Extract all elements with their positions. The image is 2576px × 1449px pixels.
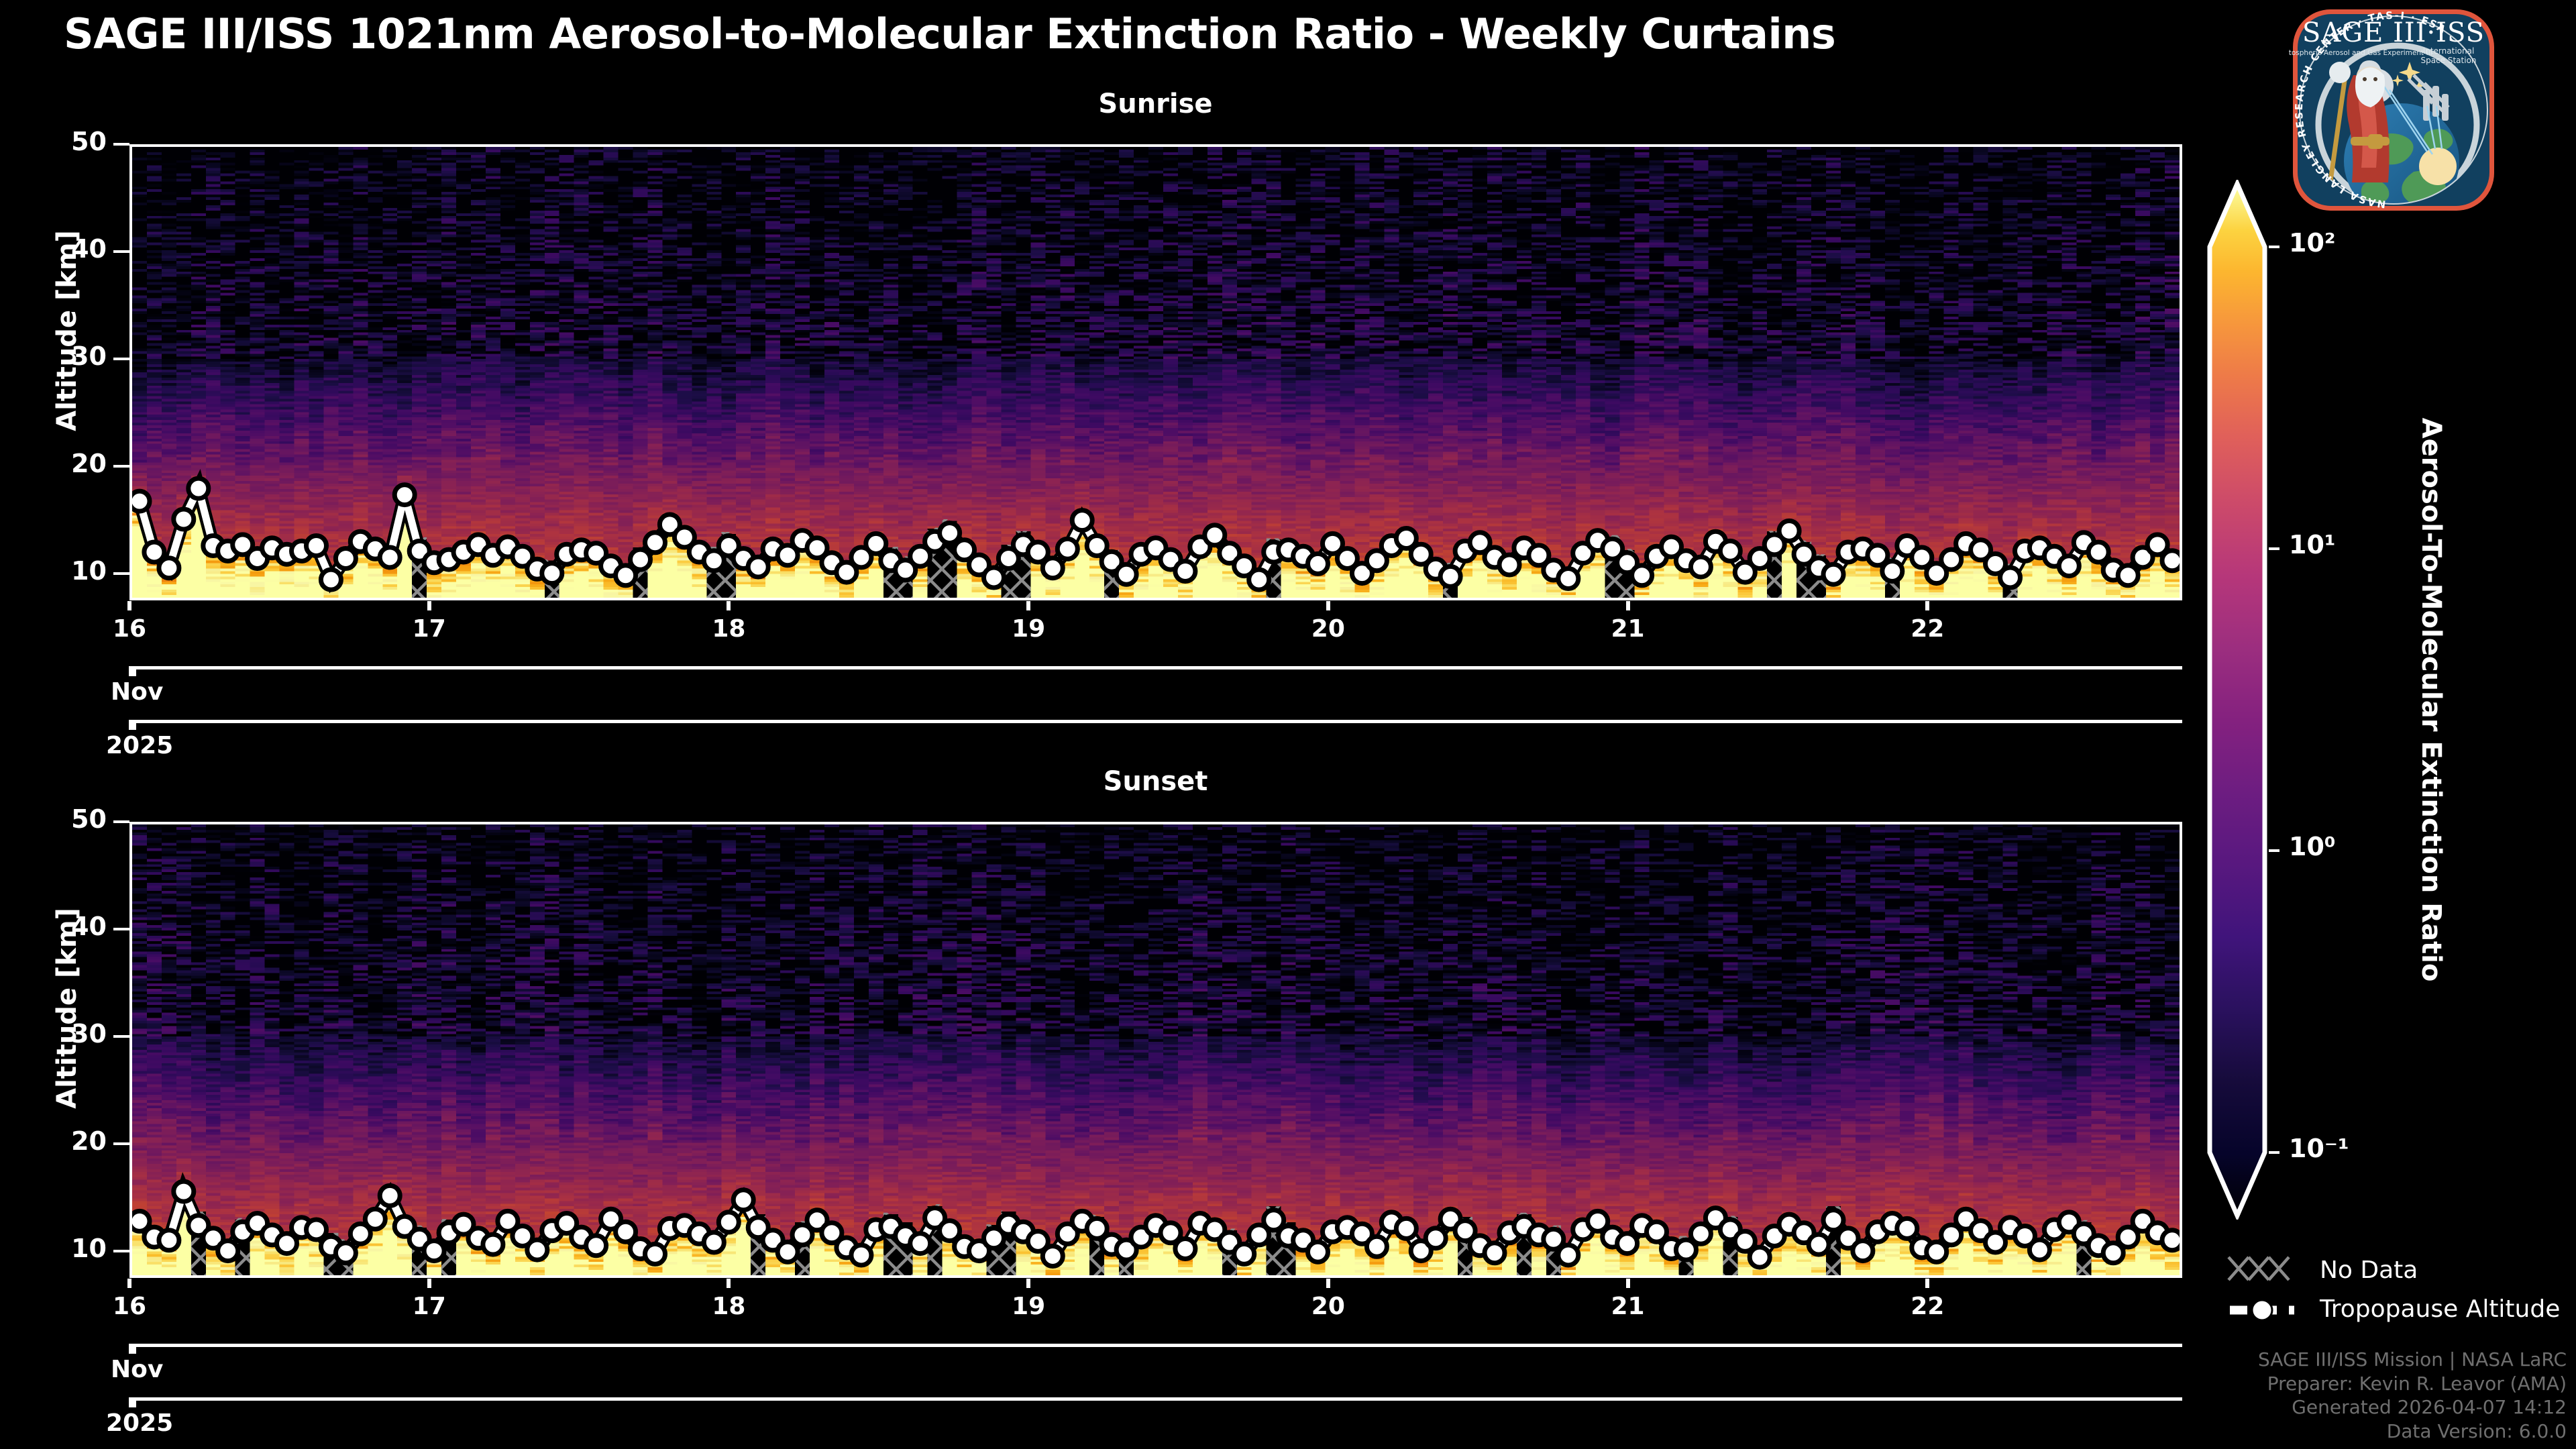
x-tick-label: 22: [1911, 615, 1944, 643]
x-tick-mark: [1326, 1279, 1330, 1288]
x-tick-label: 19: [1012, 615, 1045, 643]
y-tick-mark: [113, 250, 129, 253]
colorbar-label: Aerosol-To-Molecular Extinction Ratio: [2416, 418, 2447, 982]
svg-text:Stratospheric Aerosol and Gas: Stratospheric Aerosol and Gas Experiment…: [2289, 49, 2432, 57]
x-tick-label: 17: [413, 615, 446, 643]
colorbar-tick-mark: [2269, 547, 2279, 550]
month-label: Nov: [111, 1356, 163, 1383]
x-tick-mark: [727, 1279, 731, 1288]
y-tick-mark: [113, 143, 129, 146]
x-tick-label: 18: [712, 615, 745, 643]
x-tick-label: 22: [1911, 1293, 1944, 1320]
svg-text:Space Station: Space Station: [2420, 56, 2476, 65]
tropopause-line-marker-icon: [2227, 1292, 2305, 1328]
colorbar: 10²10¹10⁰10⁻¹ Aerosol-To-Molecular Extin…: [2203, 180, 2565, 1220]
y-axis-label-sunset: Altitude [km]: [52, 861, 83, 1156]
x-tick-mark: [1026, 601, 1030, 610]
x-tick-label: 21: [1611, 1293, 1645, 1320]
overlay-sunrise: [132, 147, 2180, 598]
footer-line-mission: SAGE III/ISS Mission | NASA LaRC: [2258, 1348, 2567, 1372]
y-tick-mark: [113, 820, 129, 823]
x-tick-mark: [427, 1279, 431, 1288]
x-tick-mark: [1925, 601, 1929, 610]
year-label: 2025: [106, 1409, 173, 1437]
colorbar-gradient: [2207, 180, 2267, 1220]
y-tick-label: 40: [0, 912, 107, 941]
y-tick-mark: [113, 1250, 129, 1252]
y-tick-mark: [113, 1142, 129, 1145]
x-tick-mark: [1326, 601, 1330, 610]
x-tick-mark: [727, 601, 731, 610]
heatmap-axes-sunset: [129, 822, 2182, 1278]
y-axis-label-sunrise: Altitude [km]: [52, 183, 83, 478]
footer-line-preparer: Preparer: Kevin R. Leavor (AMA): [2258, 1372, 2567, 1396]
colorbar-tick-label: 10⁻¹: [2289, 1134, 2349, 1163]
colorbar-tick-label: 10¹: [2289, 530, 2336, 559]
x-tick-label: 19: [1012, 1293, 1045, 1320]
colorbar-tick-mark: [2269, 1151, 2279, 1154]
legend-label-no-data: No Data: [2320, 1256, 2418, 1284]
year-label: 2025: [106, 732, 173, 759]
x-tick-mark: [1626, 601, 1630, 610]
year-level-cap: [129, 720, 136, 730]
colorbar-tick-mark: [2269, 246, 2279, 248]
month-level-cap: [129, 666, 136, 676]
x-tick-mark: [127, 601, 131, 610]
y-tick-label: 50: [0, 804, 107, 834]
tropopause-marker-group: [132, 1181, 2180, 1267]
x-tick-label: 21: [1611, 615, 1645, 643]
hatch-swatch-icon: [2227, 1253, 2305, 1289]
colorbar-tick-label: 10²: [2289, 228, 2336, 258]
x-tick-label: 20: [1311, 1293, 1345, 1320]
month-level-bar: [129, 666, 2182, 669]
x-tick-label: 16: [113, 1293, 146, 1320]
legend: No Data Tropopause Altitude: [2227, 1253, 2576, 1331]
y-tick-label: 10: [0, 556, 107, 586]
tropopause-marker-group: [132, 478, 2180, 590]
y-tick-label: 40: [0, 234, 107, 264]
y-tick-label: 30: [0, 341, 107, 371]
x-tick-mark: [427, 601, 431, 610]
svg-text:International: International: [2423, 46, 2475, 56]
x-tick-label: 20: [1311, 615, 1345, 643]
y-tick-label: 10: [0, 1234, 107, 1263]
y-tick-mark: [113, 572, 129, 575]
x-tick-label: 17: [413, 1293, 446, 1320]
footer-credits: SAGE III/ISS Mission | NASA LaRC Prepare…: [2258, 1348, 2567, 1444]
month-level-bar: [129, 1344, 2182, 1347]
y-tick-mark: [113, 928, 129, 930]
y-tick-mark: [113, 465, 129, 468]
panel-title-sunset: Sunset: [127, 766, 2184, 797]
y-tick-mark: [113, 358, 129, 360]
y-tick-label: 50: [0, 127, 107, 156]
legend-item-tropopause: Tropopause Altitude: [2227, 1292, 2576, 1331]
legend-label-tropopause: Tropopause Altitude: [2320, 1295, 2560, 1323]
x-tick-mark: [127, 1279, 131, 1288]
figure-root: SAGE III/ISS 1021nm Aerosol-to-Molecular…: [0, 0, 2576, 1449]
footer-line-version: Data Version: 6.0.0: [2258, 1419, 2567, 1444]
panel-sunset: Sunset Altitude [km] 5040302010 16171819…: [0, 771, 2187, 1395]
year-level-bar: [129, 720, 2182, 723]
legend-item-no-data: No Data: [2227, 1253, 2576, 1292]
svg-text:SAGE III·ISS: SAGE III·ISS: [2302, 17, 2485, 48]
year-level-bar: [129, 1397, 2182, 1401]
y-tick-mark: [113, 1035, 129, 1038]
y-tick-label: 20: [0, 449, 107, 478]
month-level-cap: [129, 1344, 136, 1354]
panel-title-sunrise: Sunrise: [127, 89, 2184, 119]
x-tick-mark: [1626, 1279, 1630, 1288]
month-label: Nov: [111, 678, 163, 706]
colorbar-tick-mark: [2269, 849, 2279, 852]
panel-sunrise: Sunrise Altitude [km] 5040302010 1617181…: [0, 94, 2187, 718]
footer-line-generated: Generated 2026-04-07 14:12: [2258, 1395, 2567, 1419]
x-tick-label: 18: [712, 1293, 745, 1320]
overlay-sunset: [132, 824, 2180, 1275]
x-tick-mark: [1026, 1279, 1030, 1288]
colorbar-tick-label: 10⁰: [2289, 832, 2336, 861]
x-tick-label: 16: [113, 615, 146, 643]
y-tick-label: 30: [0, 1019, 107, 1049]
page-title: SAGE III/ISS 1021nm Aerosol-to-Molecular…: [64, 9, 1835, 58]
heatmap-axes-sunrise: [129, 144, 2182, 600]
x-tick-mark: [1925, 1279, 1929, 1288]
year-level-cap: [129, 1397, 136, 1407]
y-tick-label: 20: [0, 1126, 107, 1156]
